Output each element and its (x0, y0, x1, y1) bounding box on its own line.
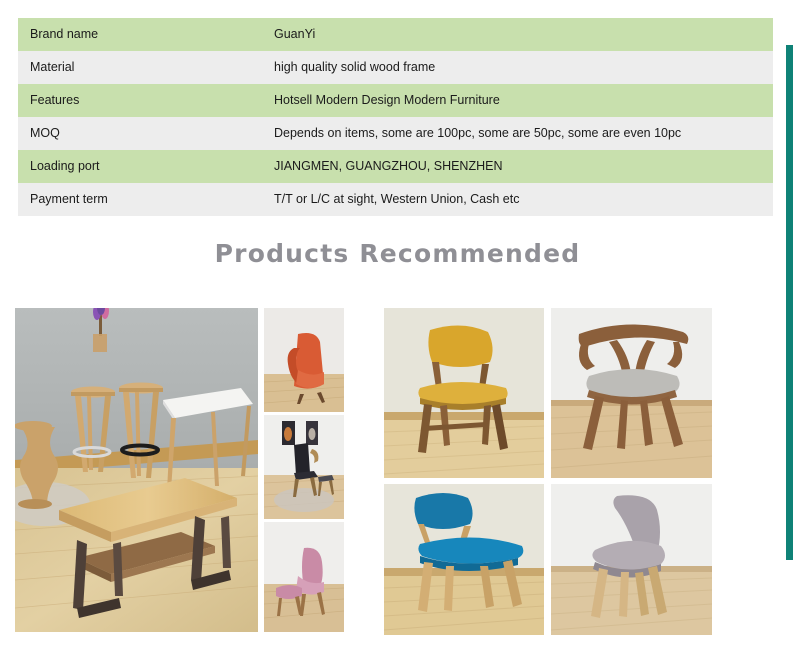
right-edge-accent-bar (786, 45, 793, 560)
table-row: Features Hotsell Modern Design Modern Fu… (18, 84, 773, 117)
black-armchair-photo[interactable] (264, 415, 344, 519)
spec-key: Features (18, 84, 262, 117)
pink-lounge-chair-photo[interactable] (264, 522, 344, 632)
section-title-products-recommended: Products Recommended (0, 239, 795, 268)
spec-value: JIANGMEN, GUANGZHOU, SHENZHEN (262, 150, 773, 183)
grey-shell-chair-photo[interactable] (551, 484, 712, 635)
blue-dining-chair-photo[interactable] (384, 484, 544, 635)
table-row: Loading port JIANGMEN, GUANGZHOU, SHENZH… (18, 150, 773, 183)
spec-key: MOQ (18, 117, 262, 150)
spec-value: T/T or L/C at sight, Western Union, Cash… (262, 183, 773, 216)
table-row: Payment term T/T or L/C at sight, Wester… (18, 183, 773, 216)
spec-key: Brand name (18, 18, 262, 51)
spec-key: Payment term (18, 183, 262, 216)
product-spec-table: Brand name GuanYi Material high quality … (18, 18, 773, 216)
orange-armchair-photo[interactable] (264, 308, 344, 412)
table-row: Brand name GuanYi (18, 18, 773, 51)
spec-value: Hotsell Modern Design Modern Furniture (262, 84, 773, 117)
walnut-armchair-photo[interactable] (551, 308, 712, 478)
table-row: MOQ Depends on items, some are 100pc, so… (18, 117, 773, 150)
spec-key: Material (18, 51, 262, 84)
spec-value: high quality solid wood frame (262, 51, 773, 84)
wood-dining-table-showroom-photo[interactable] (15, 308, 258, 632)
table-row: Material high quality solid wood frame (18, 51, 773, 84)
spec-key: Loading port (18, 150, 262, 183)
mustard-dining-chair-photo[interactable] (384, 308, 544, 478)
spec-value: Depends on items, some are 100pc, some a… (262, 117, 773, 150)
spec-value: GuanYi (262, 18, 773, 51)
